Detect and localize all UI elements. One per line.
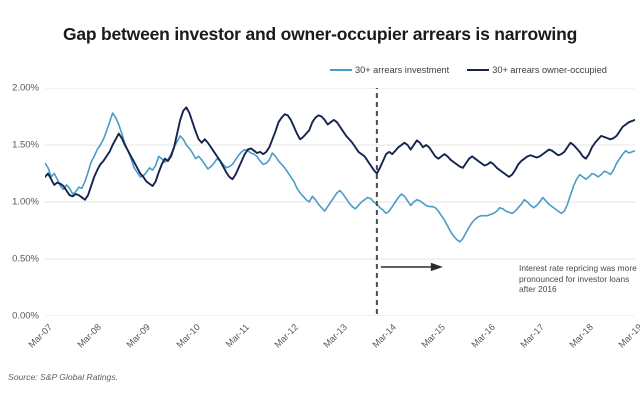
y-axis-tick-label: 1.00%	[12, 197, 39, 208]
annotation-text: Interest rate repricing was more pronoun…	[519, 263, 637, 295]
x-axis-tick-label: Mar-13	[309, 322, 349, 362]
legend-label-owner-occupied: 30+ arrears owner-occupied	[492, 65, 607, 75]
source-note: Source: S&P Global Ratings.	[8, 372, 118, 382]
x-axis-tick-label: Mar-09	[113, 322, 153, 362]
x-axis-tick-label: Mar-19	[604, 322, 640, 362]
x-axis-tick-label: Mar-17	[506, 322, 546, 362]
y-axis-tick-label: 0.50%	[12, 254, 39, 265]
y-axis-labels: 0.00%0.50%1.00%1.50%2.00%	[0, 80, 42, 324]
series-line-investment	[45, 113, 635, 242]
x-axis-tick-label: Mar-08	[64, 322, 104, 362]
page-title: Gap between investor and owner-occupier …	[0, 24, 640, 45]
x-axis-tick-label: Mar-18	[555, 322, 595, 362]
legend-item-owner-occupied[interactable]: 30+ arrears owner-occupied	[467, 65, 607, 75]
x-axis-tick-label: Mar-07	[14, 322, 54, 362]
x-axis-tick-label: Mar-10	[162, 322, 202, 362]
x-axis-tick-label: Mar-11	[211, 322, 251, 362]
annotation-arrow-head	[431, 263, 443, 271]
legend-item-investment[interactable]: 30+ arrears investment	[330, 65, 449, 75]
y-axis-tick-label: 2.00%	[12, 83, 39, 94]
legend-swatch-owner-occupied	[467, 69, 489, 71]
series-line-owner-occupied	[45, 107, 635, 199]
x-axis-labels: Mar-07Mar-08Mar-09Mar-10Mar-11Mar-12Mar-…	[0, 318, 640, 362]
x-axis-tick-label: Mar-16	[457, 322, 497, 362]
x-axis-tick-label: Mar-14	[359, 322, 399, 362]
chart-container: Gap between investor and owner-occupier …	[0, 0, 640, 409]
legend-label-investment: 30+ arrears investment	[355, 65, 449, 75]
legend-swatch-investment	[330, 69, 352, 71]
x-axis-tick-label: Mar-12	[260, 322, 300, 362]
x-axis-tick-label: Mar-15	[408, 322, 448, 362]
y-axis-tick-label: 1.50%	[12, 140, 39, 151]
chart-legend: 30+ arrears investment 30+ arrears owner…	[330, 62, 640, 78]
